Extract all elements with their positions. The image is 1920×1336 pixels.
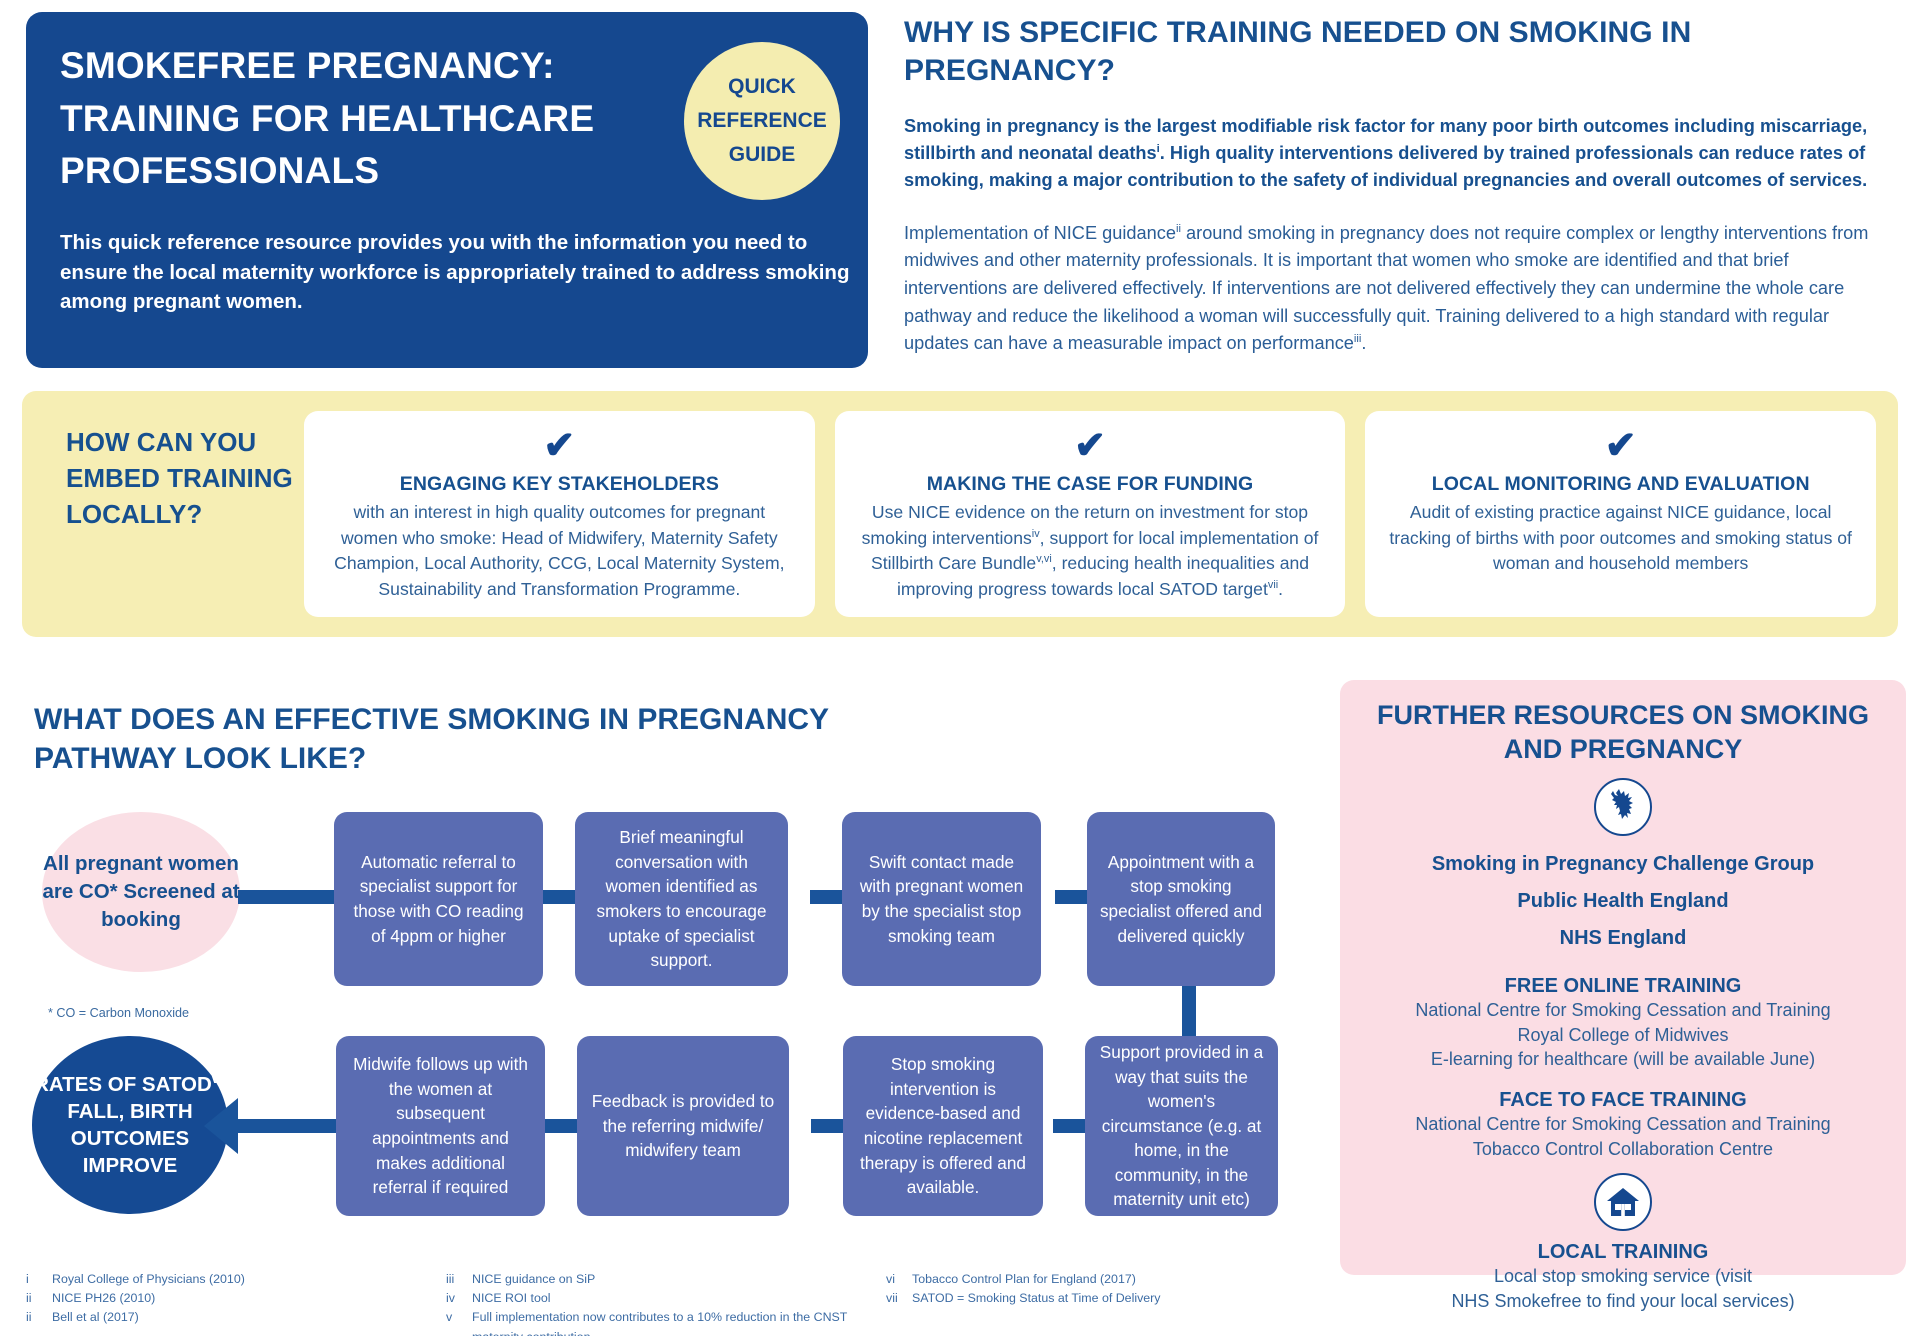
embed-card-funding: ✔ MAKING THE CASE FOR FUNDING Use NICE e…: [835, 411, 1346, 617]
pathway-step-label: Support provided in a way that suits the…: [1097, 1040, 1266, 1212]
footnote-item: i Royal College of Physicians (2010): [26, 1270, 386, 1289]
resources-section-item: E-learning for healthcare (will be avail…: [1362, 1047, 1884, 1071]
embed-card-title: MAKING THE CASE FOR FUNDING: [855, 473, 1326, 496]
arrow-head-icon: [204, 1098, 238, 1154]
resources-section-title: FREE ONLINE TRAINING: [1362, 975, 1884, 998]
connector-step1-to-step2: [543, 890, 575, 904]
co-footnote: * CO = Carbon Monoxide: [48, 1006, 189, 1020]
footnote-item: vi Tobacco Control Plan for England (201…: [886, 1270, 1306, 1289]
uk-map-shape: [1608, 788, 1638, 826]
badge-line-3: GUIDE: [729, 138, 796, 172]
embed-card-monitoring: ✔ LOCAL MONITORING AND EVALUATION Audit …: [1365, 411, 1876, 617]
footnote-text: NICE ROI tool: [472, 1289, 866, 1308]
footnote-item: iii NICE guidance on SiP: [446, 1270, 866, 1289]
footnote-text: SATOD = Smoking Status at Time of Delive…: [912, 1289, 1306, 1308]
resources-section-item: Tobacco Control Collaboration Centre: [1362, 1137, 1884, 1161]
pathway-heading: WHAT DOES AN EFFECTIVE SMOKING IN PREGNA…: [34, 700, 834, 778]
check-icon: ✔: [855, 427, 1326, 465]
footnote-item: ii Bell et al (2017): [26, 1308, 386, 1327]
pathway-end-label: RATES OF SATODvii FALL, BIRTH OUTCOMES I…: [32, 1071, 228, 1180]
footnote-text: Royal College of Physicians (2010): [52, 1270, 386, 1289]
pathway-step-label: Swift contact made with pregnant women b…: [854, 850, 1029, 948]
pathway-step-7: Stop smoking intervention is evidence-ba…: [843, 1036, 1043, 1216]
hero-panel: SMOKEFREE PREGNANCY: TRAINING FOR HEALTH…: [26, 12, 868, 368]
pathway-end-node: RATES OF SATODvii FALL, BIRTH OUTCOMES I…: [32, 1036, 228, 1214]
connector-step6-to-step7: [811, 1119, 843, 1133]
pathway-step-label: Stop smoking intervention is evidence-ba…: [855, 1052, 1031, 1200]
footnote-text: Full implementation now contributes to a…: [472, 1308, 866, 1336]
footnote-item: iv NICE ROI tool: [446, 1289, 866, 1308]
why-heading: WHY IS SPECIFIC TRAINING NEEDED ON SMOKI…: [904, 14, 1894, 91]
hero-subtitle: This quick reference resource provides y…: [60, 228, 850, 318]
footnote-text: Bell et al (2017): [52, 1308, 386, 1327]
footnote-text: NICE PH26 (2010): [52, 1289, 386, 1308]
page-title: SMOKEFREE PREGNANCY: TRAINING FOR HEALTH…: [60, 40, 700, 198]
footnote-number: ii: [26, 1308, 52, 1327]
resources-heading: FURTHER RESOURCES ON SMOKING AND PREGNAN…: [1362, 698, 1884, 766]
pathway-step-1: Automatic referral to specialist support…: [334, 812, 543, 986]
quick-reference-guide-badge: QUICK REFERENCE GUIDE: [684, 42, 840, 200]
badge-line-2: REFERENCE: [697, 104, 827, 138]
resources-section-item: Royal College of Midwives: [1362, 1023, 1884, 1047]
why-training-section: WHY IS SPECIFIC TRAINING NEEDED ON SMOKI…: [904, 14, 1894, 358]
pathway-step-5: Midwife follows up with the women at sub…: [336, 1036, 545, 1216]
footnotes: i Royal College of Physicians (2010) ii …: [0, 1266, 1920, 1334]
embed-band-title: HOW CAN YOU EMBED TRAINING LOCALLY?: [66, 424, 296, 532]
connector-step8-to-end: [238, 1119, 338, 1133]
footnote-number: vi: [886, 1270, 912, 1289]
embed-card-text: Audit of existing practice against NICE …: [1385, 500, 1856, 577]
footnote-number: vii: [886, 1289, 912, 1308]
footnote-text: NICE guidance on SiP: [472, 1270, 866, 1289]
embed-card-text: with an interest in high quality outcome…: [324, 500, 795, 603]
connector-step3-to-step4: [1055, 890, 1087, 904]
pathway-step-label: Brief meaningful conversation with women…: [587, 825, 776, 973]
check-icon: ✔: [324, 427, 795, 465]
footnote-column-3: vi Tobacco Control Plan for England (201…: [886, 1270, 1306, 1308]
resources-section-title: FACE TO FACE TRAINING: [1362, 1089, 1884, 1112]
footnote-item: v Full implementation now contributes to…: [446, 1308, 866, 1336]
pathway-start-node: All pregnant women are CO* Screened at b…: [42, 812, 240, 972]
pathway-step-label: Appointment with a stop smoking speciali…: [1099, 850, 1263, 948]
embed-card-title: ENGAGING KEY STAKEHOLDERS: [324, 473, 795, 496]
pathway-step-8: Support provided in a way that suits the…: [1085, 1036, 1278, 1216]
connector-start-to-step1: [238, 890, 334, 904]
footnote-item: ii NICE PH26 (2010): [26, 1289, 386, 1308]
footnote-number: iv: [446, 1289, 472, 1308]
resource-org: Public Health England: [1362, 883, 1884, 920]
embed-card-title: LOCAL MONITORING AND EVALUATION: [1385, 473, 1856, 496]
resources-section-item: National Centre for Smoking Cessation an…: [1362, 998, 1884, 1022]
embed-card-text: Use NICE evidence on the return on inves…: [855, 500, 1326, 603]
why-lead-paragraph: Smoking in pregnancy is the largest modi…: [904, 113, 1894, 194]
infographic-page: SMOKEFREE PREGNANCY: TRAINING FOR HEALTH…: [0, 0, 1920, 1336]
pathway-step-6: Feedback is provided to the referring mi…: [577, 1036, 789, 1216]
embed-card-list: ✔ ENGAGING KEY STAKEHOLDERS with an inte…: [304, 411, 1876, 617]
footnote-number: ii: [26, 1289, 52, 1308]
pathway-step-4: Appointment with a stop smoking speciali…: [1087, 812, 1275, 986]
embed-card-stakeholders: ✔ ENGAGING KEY STAKEHOLDERS with an inte…: [304, 411, 815, 617]
footnote-number: iii: [446, 1270, 472, 1289]
uk-map-icon: [1594, 778, 1652, 836]
pathway-step-3: Swift contact made with pregnant women b…: [842, 812, 1041, 986]
house-shape: [1606, 1187, 1640, 1217]
connector-step7-to-step8: [545, 1119, 577, 1133]
embed-training-band: HOW CAN YOU EMBED TRAINING LOCALLY? ✔ EN…: [22, 391, 1898, 637]
resource-org: NHS England: [1362, 920, 1884, 957]
resource-org: Smoking in Pregnancy Challenge Group: [1362, 846, 1884, 883]
footnote-column-1: i Royal College of Physicians (2010) ii …: [26, 1270, 386, 1328]
pathway-step-label: Feedback is provided to the referring mi…: [589, 1089, 777, 1163]
why-body-paragraph: Implementation of NICE guidanceii around…: [904, 220, 1894, 358]
house-icon: [1594, 1173, 1652, 1231]
footnote-text: Tobacco Control Plan for England (2017): [912, 1270, 1306, 1289]
footnote-item: vii SATOD = Smoking Status at Time of De…: [886, 1289, 1306, 1308]
footnote-column-2: iii NICE guidance on SiP iv NICE ROI too…: [446, 1270, 866, 1336]
local-training-title: LOCAL TRAINING: [1362, 1241, 1884, 1264]
check-icon: ✔: [1385, 427, 1856, 465]
pathway-step-label: Automatic referral to specialist support…: [346, 850, 531, 948]
footnote-number: v: [446, 1308, 472, 1336]
further-resources-panel: FURTHER RESOURCES ON SMOKING AND PREGNAN…: [1340, 680, 1906, 1275]
connector-step5-to-step6: [1053, 1119, 1087, 1133]
resources-section-item: National Centre for Smoking Cessation an…: [1362, 1112, 1884, 1136]
pathway-start-label: All pregnant women are CO* Screened at b…: [42, 850, 240, 934]
footnote-number: i: [26, 1270, 52, 1289]
badge-line-1: QUICK: [728, 70, 796, 104]
pathway-step-2: Brief meaningful conversation with women…: [575, 812, 788, 986]
connector-step2-to-step3: [810, 890, 842, 904]
pathway-step-label: Midwife follows up with the women at sub…: [348, 1052, 533, 1200]
